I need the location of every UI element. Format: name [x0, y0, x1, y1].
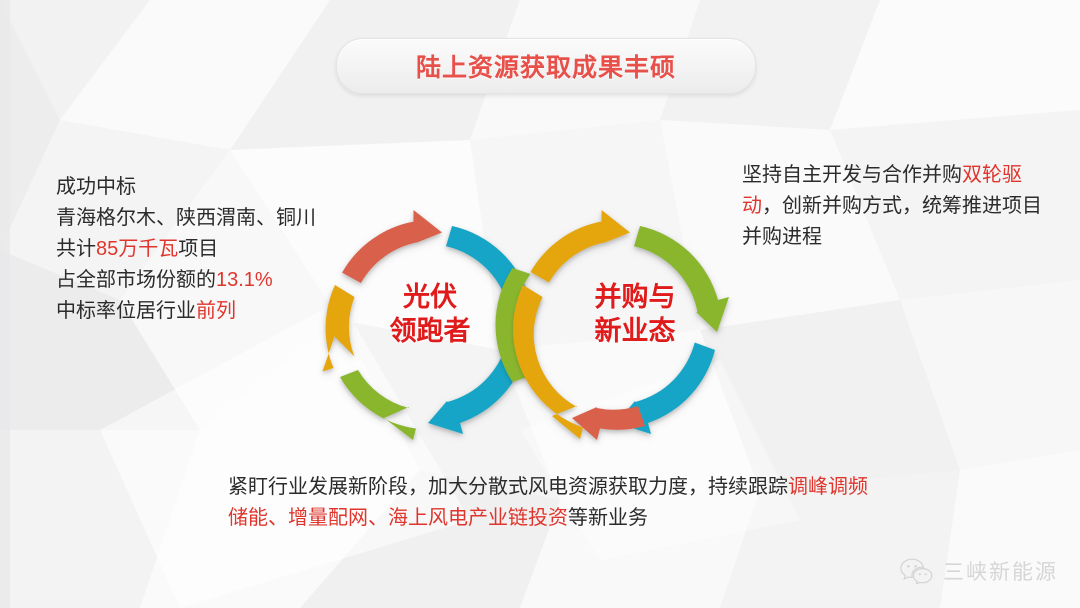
bottom-body-text: 紧盯行业发展新阶段，加大分散式风电资源获取力度，持续跟踪调峰调频储能、增量配网、…: [228, 472, 868, 534]
plain-text: ，创新并购方式，统筹推进项目并购进程: [742, 195, 1042, 248]
plain-text: 中标率位居行业: [56, 300, 196, 322]
segment-green-icon: [340, 370, 416, 440]
plain-text: 等新业务: [568, 507, 648, 529]
highlighted-text: 85万千瓦: [96, 238, 178, 260]
page-title: 陆上资源获取成果丰硕: [416, 48, 676, 84]
left-ring-label: 光伏 领跑者: [345, 280, 515, 348]
highlighted-text: 13.1%: [216, 269, 273, 291]
segment-red-bottom-icon: [572, 406, 645, 440]
right-body-text: 坚持自主开发与合作并购双轮驱动，创新并购方式，统筹推进项目并购进程: [742, 160, 1052, 253]
watermark-label: 三峡新能源: [943, 556, 1058, 586]
wechat-icon: [900, 558, 934, 584]
plain-text: 紧盯行业发展新阶段，加大分散式风电资源获取力度，持续跟踪: [228, 476, 788, 498]
segment-yellow-top-icon: [531, 210, 631, 283]
plain-text: 坚持自主开发与合作并购: [742, 164, 962, 186]
infinity-dual-ring-diagram: 光伏 领跑者 并购与 新业态: [300, 190, 750, 460]
slide-title-pill: 陆上资源获取成果丰硕: [336, 38, 756, 94]
slide-canvas: 陆上资源获取成果丰硕 成功中标 青海格尔木、陕西渭南、铜川 共计85万千瓦项目 …: [0, 0, 1080, 608]
right-ring-label: 并购与 新业态: [550, 280, 720, 348]
watermark: 三峡新能源: [900, 556, 1058, 586]
segment-red-icon: [342, 210, 442, 283]
highlighted-text: 前列: [196, 300, 236, 322]
